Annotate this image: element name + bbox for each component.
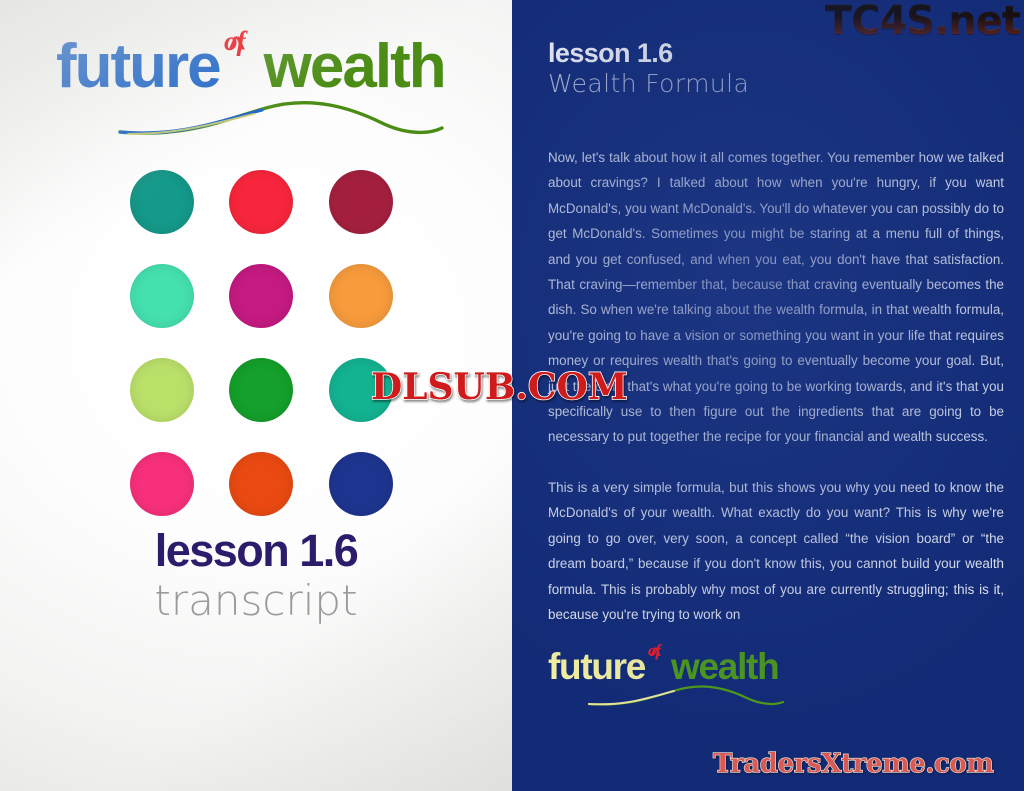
brand-caret-icon: ^ (228, 38, 244, 58)
transcript-body: Now, let's talk about how it all comes t… (548, 145, 1004, 652)
swatch-cell (227, 356, 295, 424)
swatch-cell (327, 262, 395, 330)
footer-brand-caret-icon: ^ (650, 649, 660, 662)
footer-brand-swoosh-icon (586, 681, 786, 707)
watermark-tc4s: TC4S.net (825, 0, 1020, 44)
swatch-emerald (329, 358, 393, 422)
cover-title-block: lesson 1.6 transcript (0, 527, 512, 625)
swatch-orange-deep (229, 452, 293, 516)
swatch-lime (130, 358, 194, 422)
footer-brand-logo: futurewealth of ^ (548, 648, 848, 708)
swatch-cell (128, 262, 196, 330)
content-panel: lesson 1.6 Wealth Formula Now, let's tal… (512, 0, 1024, 791)
brand-logo: futurewealth of ^ (56, 36, 466, 132)
swatch-cell (227, 262, 295, 330)
swatch-mint (130, 264, 194, 328)
swatch-cell (327, 168, 395, 236)
swatch-cell (327, 356, 395, 424)
swatch-navy (329, 452, 393, 516)
brand-wordmark: futurewealth of ^ (56, 36, 466, 98)
swatch-green (229, 358, 293, 422)
swatch-magenta (229, 264, 293, 328)
cover-lesson-label: lesson 1.6 (0, 527, 512, 575)
swatch-crimson (329, 170, 393, 234)
slide-page: futurewealth of ^ lesson (0, 0, 1024, 791)
swatch-teal (130, 170, 194, 234)
content-header: lesson 1.6 Wealth Formula (548, 38, 749, 99)
swatch-cell (128, 450, 196, 518)
footer-brand-wordmark: futurewealth of ^ (548, 648, 848, 685)
content-lesson-subtitle: Wealth Formula (548, 69, 749, 99)
swatch-cell (227, 450, 295, 518)
color-swatch-grid (128, 168, 400, 518)
swatch-red (229, 170, 293, 234)
transcript-paragraph: This is a very simple formula, but this … (548, 475, 1004, 627)
content-lesson-title: lesson 1.6 (548, 38, 749, 68)
transcript-paragraph: Now, let's talk about how it all comes t… (548, 145, 1004, 450)
swatch-cell (327, 450, 395, 518)
cover-doctype-label: transcript (0, 577, 512, 625)
swatch-cell (128, 356, 196, 424)
swatch-orange-light (329, 264, 393, 328)
swatch-cell (227, 168, 295, 236)
swatch-cell (128, 168, 196, 236)
brand-wealth-text: wealth (264, 32, 445, 101)
swatch-pink (130, 452, 194, 516)
brand-swoosh-icon (116, 94, 446, 136)
cover-panel: futurewealth of ^ lesson (0, 0, 512, 791)
brand-future-text: future (56, 32, 220, 101)
